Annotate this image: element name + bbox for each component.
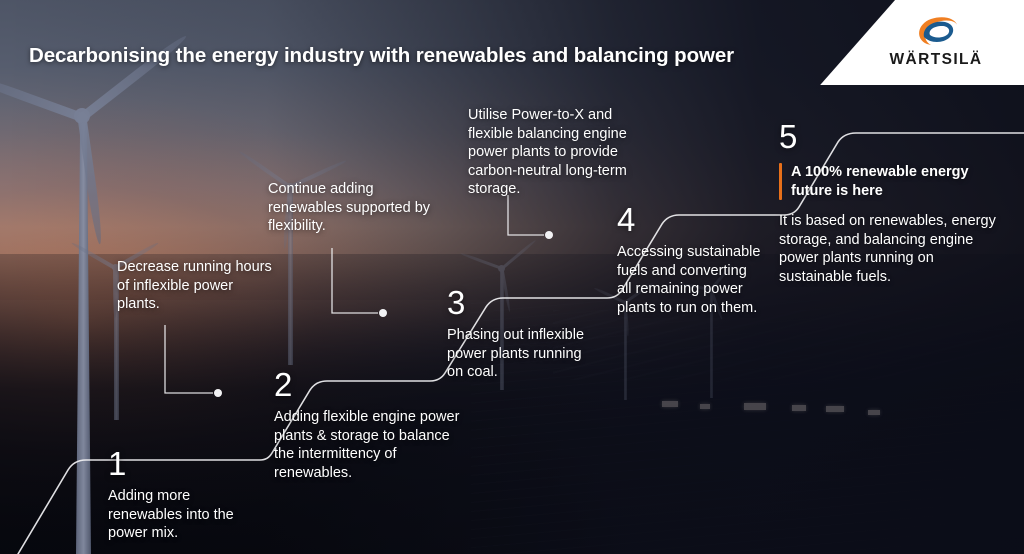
step-5-headline: A 100% renewable energy future is here <box>791 163 1001 200</box>
step-5-body: It is based on renewables, energy storag… <box>779 212 1001 286</box>
step-3-body: Phasing out inflexible power plants runn… <box>447 326 587 382</box>
background-building <box>826 406 844 412</box>
step-2: 2 Adding flexible engine power plants & … <box>274 368 464 482</box>
step-2-body: Adding flexible engine power plants & st… <box>274 408 464 482</box>
step-5-headline-group: A 100% renewable energy future is here <box>779 163 1001 200</box>
step-2-number: 2 <box>274 368 464 401</box>
background-building <box>700 404 710 409</box>
background-building <box>662 401 678 407</box>
background-building <box>868 410 880 415</box>
wartsila-swirl-icon <box>911 15 961 49</box>
turbine-blade <box>71 241 116 269</box>
step-5-number: 5 <box>779 120 1001 153</box>
callout-2: Continue adding renewables supported by … <box>268 180 440 236</box>
background-building <box>792 405 806 411</box>
brand-name: WÄRTSILÄ <box>890 51 983 69</box>
background-building <box>744 403 766 410</box>
step-5-accent-bar <box>779 163 782 200</box>
step-1-body: Adding more renewables into the power mi… <box>108 487 260 543</box>
step-1-number: 1 <box>108 447 260 480</box>
page-title: Decarbonising the energy industry with r… <box>29 44 734 68</box>
callout-3: Utilise Power-to-X and flexible balancin… <box>468 106 660 199</box>
callout-1: Decrease running hours of inflexible pow… <box>117 258 275 314</box>
step-4-number: 4 <box>617 203 761 236</box>
step-4: 4 Accessing sustainable fuels and conver… <box>617 203 761 317</box>
brand-logo: WÄRTSILÄ <box>866 8 1006 76</box>
step-1: 1 Adding more renewables into the power … <box>108 447 260 543</box>
turbine-blade <box>0 71 84 122</box>
step-4-body: Accessing sustainable fuels and converti… <box>617 243 761 317</box>
infographic-canvas: WÄRTSILÄ Decarbonising the energy indust… <box>0 0 1024 554</box>
step-3: 3 Phasing out inflexible power plants ru… <box>447 286 587 382</box>
wind-turbine-distant <box>250 145 360 365</box>
step-3-number: 3 <box>447 286 587 319</box>
turbine-blade <box>501 239 537 270</box>
step-5: 5 A 100% renewable energy future is here… <box>779 120 1001 286</box>
